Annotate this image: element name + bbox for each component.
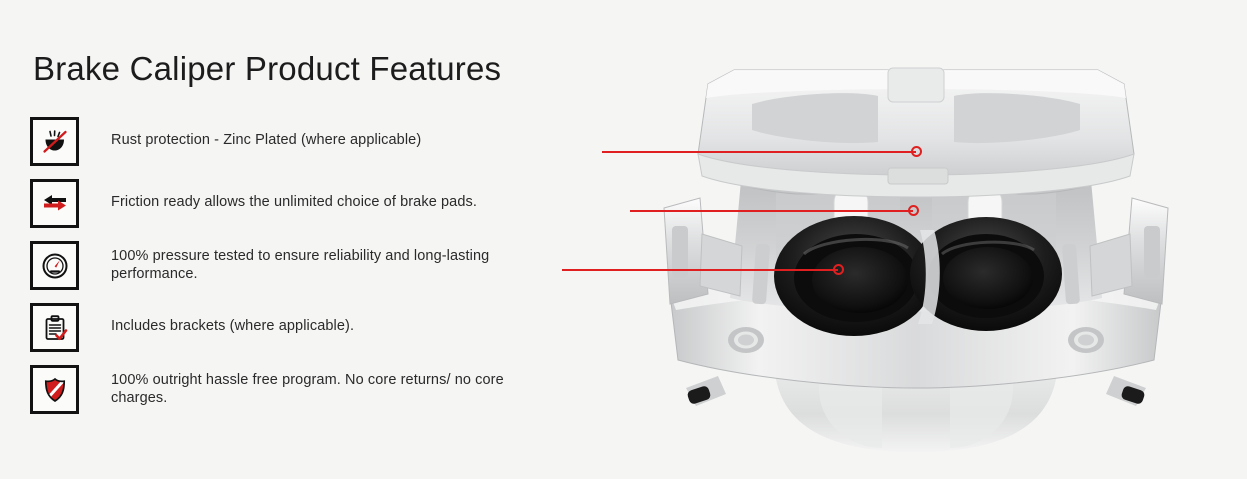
feature-item-rust-protection: Rust protection - Zinc Plated (where app… [30,116,570,178]
feature-item-includes-brackets: Includes brackets (where applicable). [30,302,570,364]
feature-icon-frame [30,179,79,228]
product-image-area [556,0,1247,479]
brake-caliper-illustration [656,58,1176,458]
feature-icon-frame [30,365,79,414]
features-column: Brake Caliper Product Features [0,0,600,479]
feature-text-line2: charges. [111,390,167,406]
page-title: Brake Caliper Product Features [33,50,501,88]
feature-list: Rust protection - Zinc Plated (where app… [30,116,570,426]
friction-arrows-icon [40,189,70,219]
no-rust-droplet-icon [40,127,70,157]
piston-bore-left [774,216,934,336]
feature-item-friction-ready: Friction ready allows the unlimited choi… [30,178,570,240]
feature-text: 100% pressure tested to ensure reliabili… [111,240,570,283]
feature-item-pressure-tested: 100% pressure tested to ensure reliabili… [30,240,570,302]
feature-text: 100% outright hassle free program. No co… [111,364,570,407]
feature-text: Rust protection - Zinc Plated (where app… [111,116,570,149]
brake-caliper-image [656,58,1176,458]
pressure-gauge-icon [40,251,70,281]
feature-item-hassle-free-program: 100% outright hassle free program. No co… [30,364,570,426]
feature-icon-frame [30,117,79,166]
shield-icon [40,375,70,405]
product-features-page: Brake Caliper Product Features [0,0,1247,479]
feature-text-line1: 100% pressure tested to ensure reliabili… [111,248,489,264]
feature-text-line2: performance. [111,266,198,282]
feature-text-line1: 100% outright hassle free program. No co… [111,372,504,388]
clipboard-check-icon [40,313,70,343]
feature-text: Friction ready allows the unlimited choi… [111,178,570,211]
feature-text: Includes brackets (where applicable). [111,302,570,335]
feature-icon-frame [30,241,79,290]
feature-icon-frame [30,303,79,352]
